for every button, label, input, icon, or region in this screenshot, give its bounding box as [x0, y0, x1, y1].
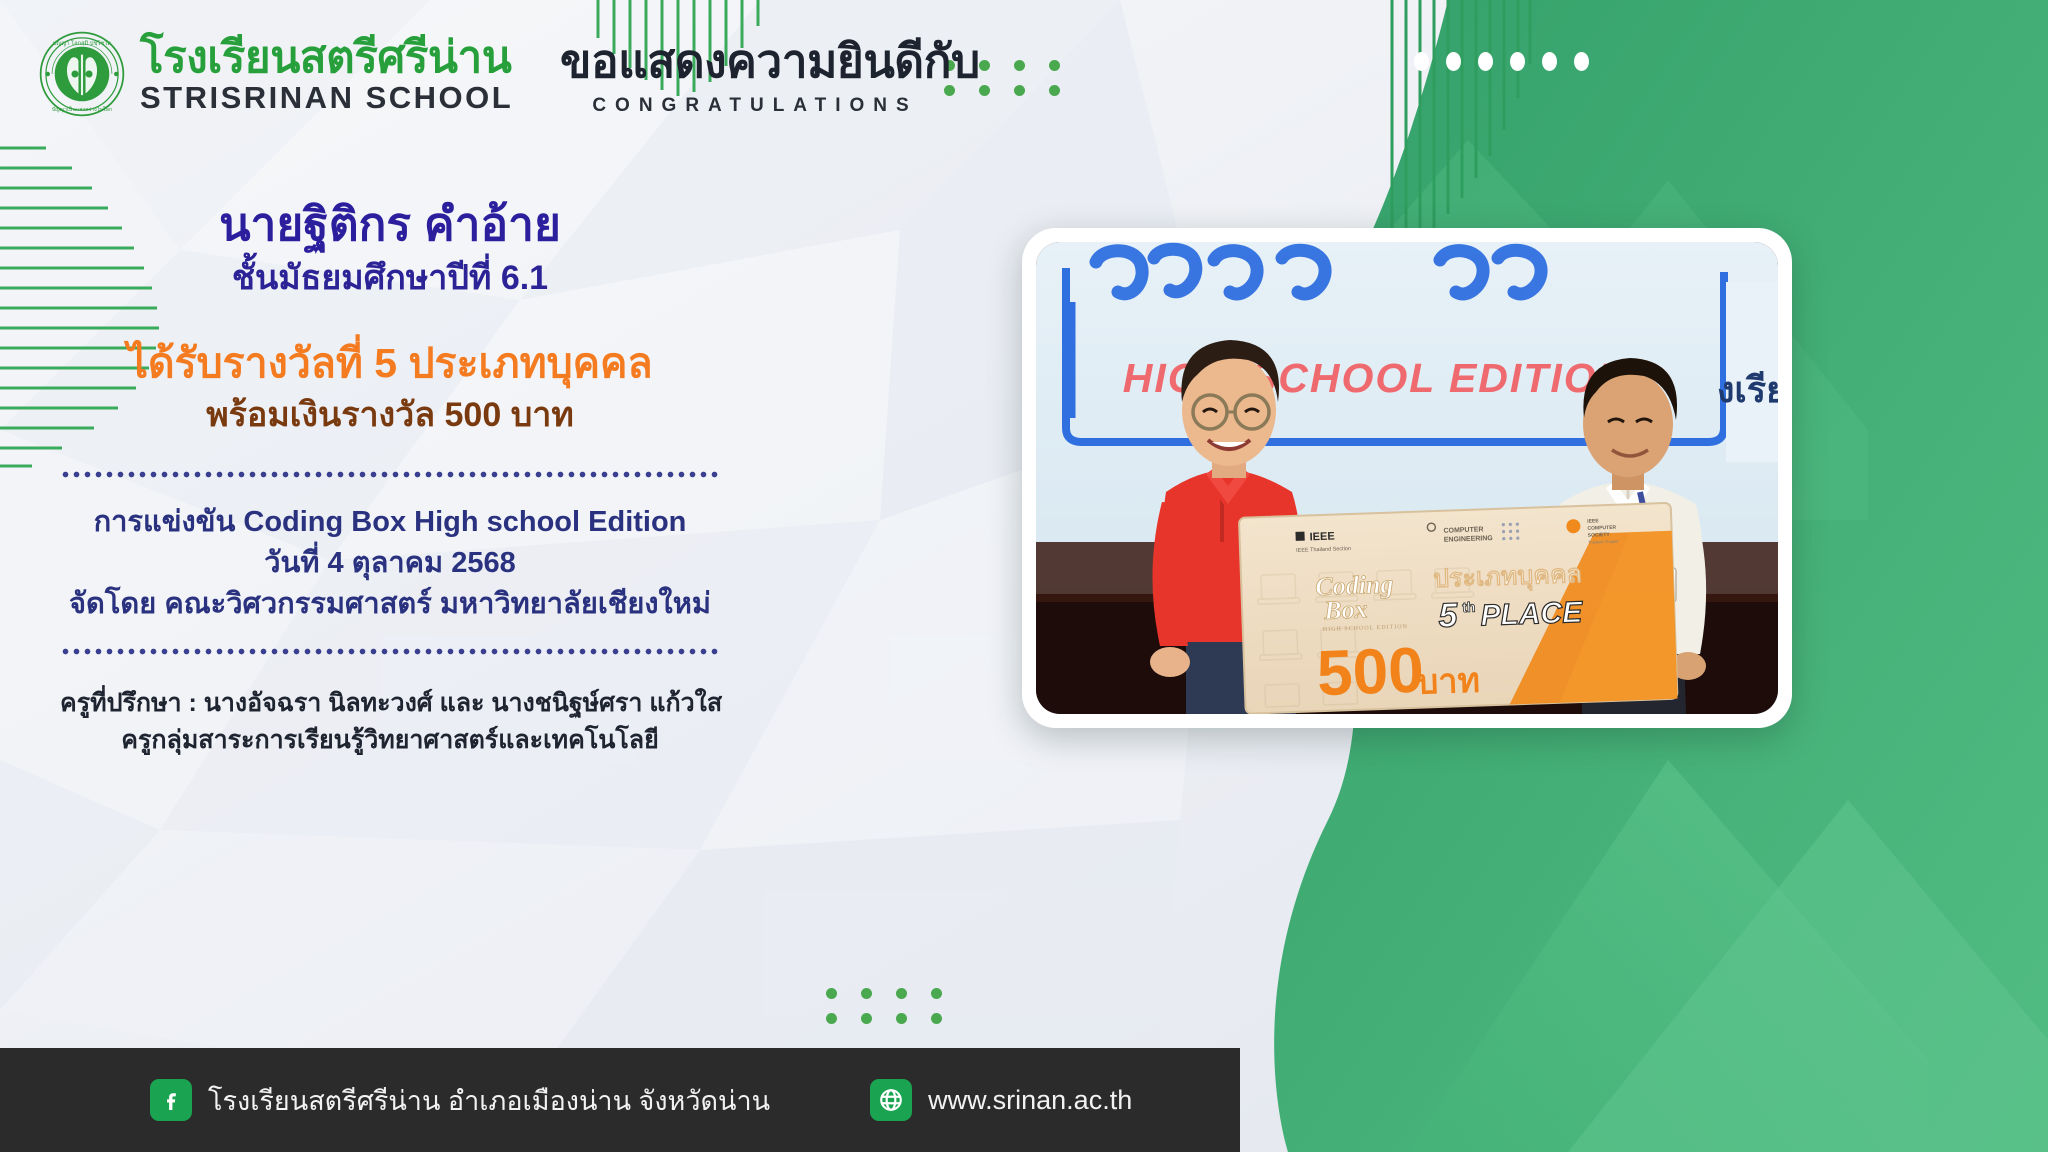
- award-title: ได้รับรางวัลที่ 5 ประเภทบุคคล: [60, 338, 720, 389]
- award-text-column: นายฐิติกร คำอ้าย ชั้นมัธยมศึกษาปีที่ 6.1…: [60, 196, 720, 760]
- svg-text:IEEE: IEEE: [1587, 518, 1599, 524]
- svg-text:ปัญญาเป็นแสงสว่างในโลก: ปัญญาเป็นแสงสว่างในโลก: [52, 105, 112, 113]
- congratulations-th: ขอแสดงความยินดีกับ: [560, 36, 950, 87]
- footer-website-text: www.srinan.ac.th: [928, 1085, 1132, 1116]
- award-prize-money: พร้อมเงินรางวัล 500 บาท: [60, 393, 720, 437]
- event-details: การแข่งขัน Coding Box High school Editio…: [60, 502, 720, 626]
- congratulation-poster: ปญฺญา โลกสฺมิ ปชฺโชโต ปัญญาเป็นแสงสว่างใ…: [0, 0, 2048, 1152]
- award-photo-card: HIGH-SCHOOL EDITION งเรีย: [1022, 228, 1792, 728]
- facebook-icon[interactable]: [150, 1079, 192, 1121]
- svg-text:th: th: [1462, 599, 1476, 615]
- dotted-divider-bottom: [60, 648, 720, 655]
- event-date: วันที่ 4 ตุลาคม 2568: [60, 543, 720, 584]
- teacher-advisors: ครูที่ปรึกษา : นางอัจฉรา นิลทะวงศ์ และ น…: [60, 685, 720, 723]
- svg-text:บาท: บาท: [1416, 662, 1480, 702]
- footer-bar: โรงเรียนสตรีศรีน่าน อำเภอเมืองน่าน จังหว…: [0, 1048, 1240, 1152]
- teacher-credits: ครูที่ปรึกษา : นางอัจฉรา นิลทะวงศ์ และ น…: [60, 685, 720, 760]
- footer-facebook[interactable]: โรงเรียนสตรีศรีน่าน อำเภอเมืองน่าน จังหว…: [150, 1079, 770, 1122]
- student-name: นายฐิติกร คำอ้าย: [60, 196, 720, 254]
- student-class: ชั้นมัธยมศึกษาปีที่ 6.1: [60, 256, 720, 300]
- event-organizer: จัดโดย คณะวิศวกรรมศาสตร์ มหาวิทยาลัยเชีย…: [60, 584, 720, 625]
- svg-text:Box: Box: [1323, 594, 1368, 625]
- congratulations-en: CONGRATULATIONS: [560, 95, 950, 117]
- dotted-divider-top: [60, 471, 720, 478]
- school-name-en: STRISRINAN SCHOOL: [140, 82, 513, 113]
- event-competition: การแข่งขัน Coding Box High school Editio…: [60, 502, 720, 543]
- svg-text:COMPUTER: COMPUTER: [1587, 525, 1616, 532]
- footer-facebook-text: โรงเรียนสตรีศรีน่าน อำเภอเมืองน่าน จังหว…: [208, 1079, 770, 1122]
- svg-text:COMPUTER: COMPUTER: [1443, 526, 1483, 534]
- school-crest-icon: ปญฺญา โลกสฺมิ ปชฺโชโต ปัญญาเป็นแสงสว่างใ…: [38, 30, 126, 118]
- award-photo: HIGH-SCHOOL EDITION งเรีย: [1036, 242, 1778, 714]
- svg-text:IEEE: IEEE: [1309, 531, 1334, 544]
- congratulations-block: ขอแสดงความยินดีกับ CONGRATULATIONS: [560, 36, 950, 117]
- svg-text:PLACE: PLACE: [1480, 596, 1584, 633]
- line-fan-top-right: [1386, 0, 1536, 264]
- svg-text:ปญฺญา โลกสฺมิ ปชฺโชโต: ปญฺญา โลกสฺมิ ปชฺโชโต: [53, 39, 112, 47]
- svg-text:500: 500: [1316, 634, 1425, 710]
- school-name-th: โรงเรียนสตรีศรีน่าน: [140, 36, 513, 80]
- school-logo-block: ปญฺญา โลกสฺมิ ปชฺโชโต ปัญญาเป็นแสงสว่างใ…: [38, 30, 513, 118]
- svg-text:5: 5: [1438, 596, 1459, 635]
- svg-text:SOCIETY: SOCIETY: [1588, 532, 1611, 539]
- footer-website[interactable]: www.srinan.ac.th: [870, 1079, 1132, 1121]
- teacher-department: ครูกลุ่มสาระการเรียนรู้วิทยาศาสตร์และเทค…: [60, 722, 720, 760]
- dot-grid-top-right: [1414, 52, 1590, 71]
- globe-icon[interactable]: [870, 1079, 912, 1121]
- dot-grid-bottom: [826, 988, 942, 1024]
- svg-text:งเรีย: งเรีย: [1717, 369, 1778, 410]
